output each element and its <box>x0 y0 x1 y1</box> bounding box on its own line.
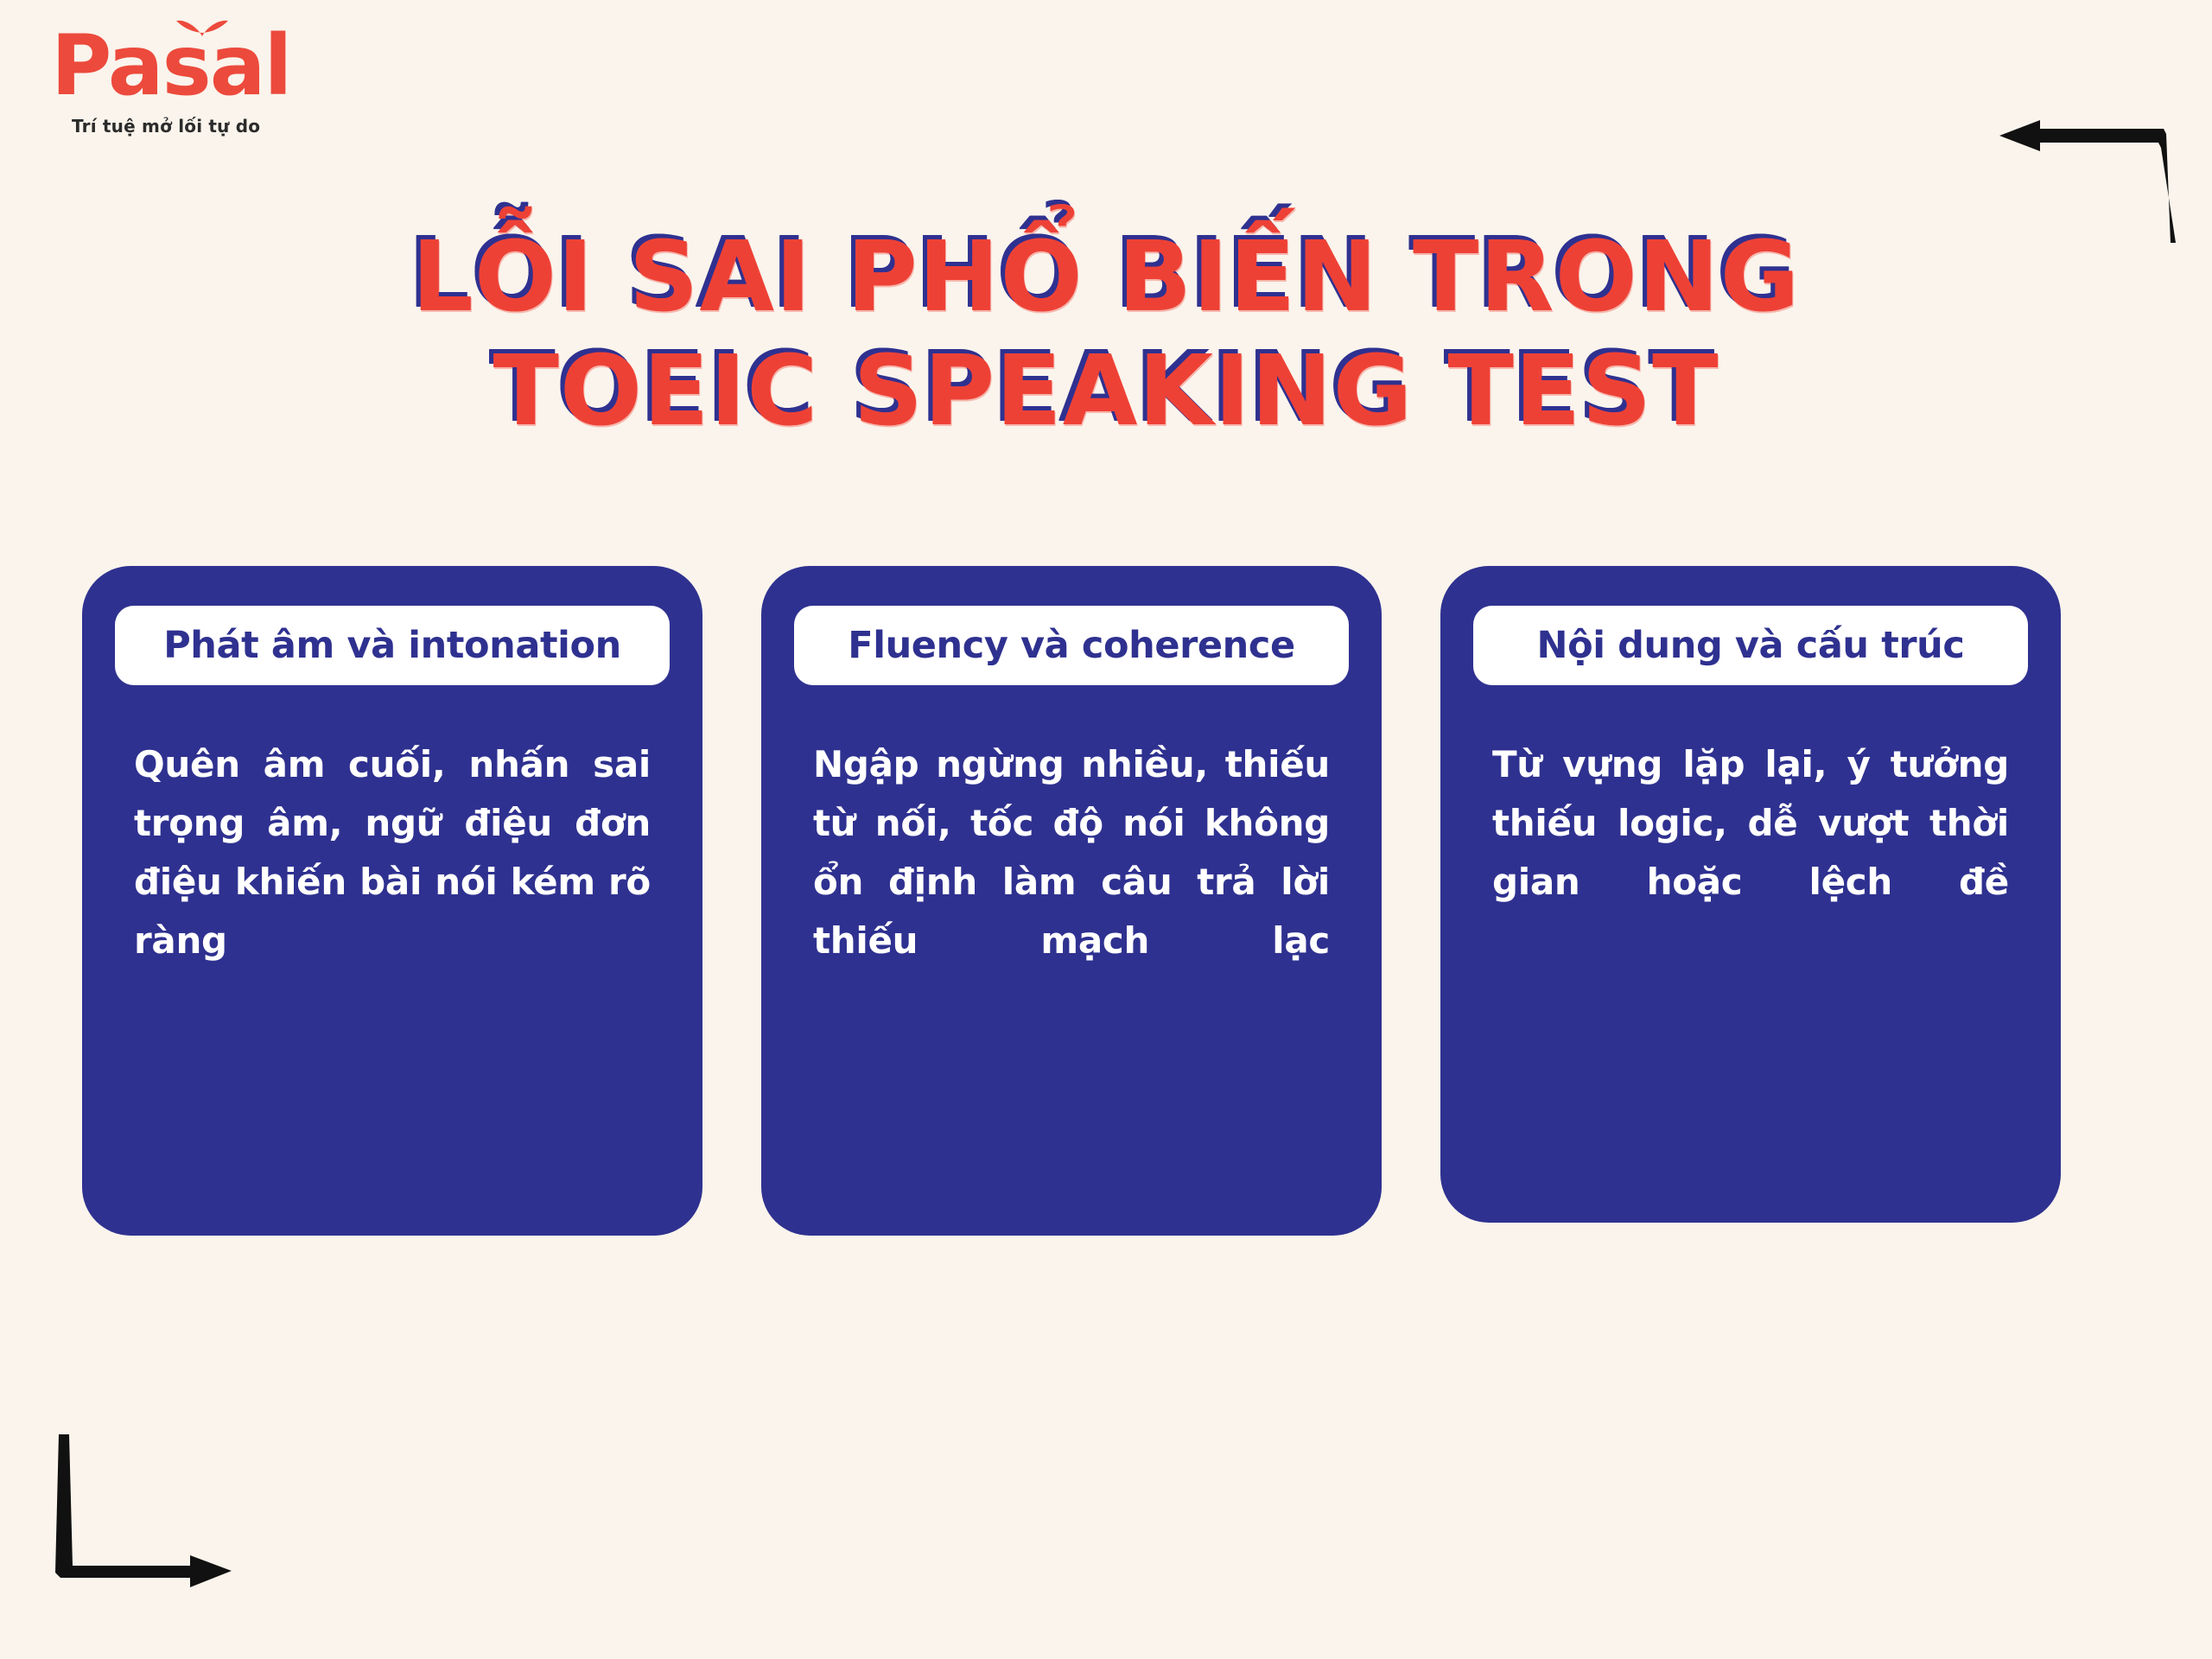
logo-text: Pasal <box>51 17 290 114</box>
page-title: LỖI SAI PHỔ BIẾN TRONG TOEIC SPEAKING TE… <box>0 220 2212 448</box>
card-title-pill: Nội dung và cấu trúc <box>1473 606 2028 685</box>
card-title-text: Nội dung và cấu trúc <box>1537 624 1965 667</box>
card-title-text: Fluency và coherence <box>848 624 1294 667</box>
card-body-text: Quên âm cuối, nhấn sai trọng âm, ngữ điệ… <box>134 735 651 1029</box>
corner-arrow-right-icon <box>43 1434 242 1607</box>
error-card-pronunciation: Phát âm và intonation Quên âm cuối, nhấn… <box>82 566 702 1236</box>
card-row: Phát âm và intonation Quên âm cuối, nhấn… <box>82 566 2143 1236</box>
page-title-line-2: TOEIC SPEAKING TEST <box>0 334 2212 448</box>
logo-tagline: Trí tuệ mở lối tự do <box>72 116 307 137</box>
page-title-line-1: LỖI SAI PHỔ BIẾN TRONG <box>0 220 2212 334</box>
card-body-text: Từ vựng lặp lại, ý tưởng thiếu logic, dễ… <box>1492 735 2009 970</box>
error-card-content-structure: Nội dung và cấu trúc Từ vựng lặp lại, ý … <box>1440 566 2061 1223</box>
card-title-pill: Fluency và coherence <box>794 606 1349 685</box>
card-title-text: Phát âm và intonation <box>163 624 621 667</box>
card-title-pill: Phát âm và intonation <box>115 606 670 685</box>
brand-logo: Pasal Trí tuệ mở lối tự do <box>48 24 307 154</box>
logo-wordmark: Pasal <box>48 24 307 107</box>
card-body-text: Ngập ngừng nhiều, thiếu từ nối, tốc độ n… <box>813 735 1330 1029</box>
error-card-fluency: Fluency và coherence Ngập ngừng nhiều, t… <box>761 566 1382 1236</box>
